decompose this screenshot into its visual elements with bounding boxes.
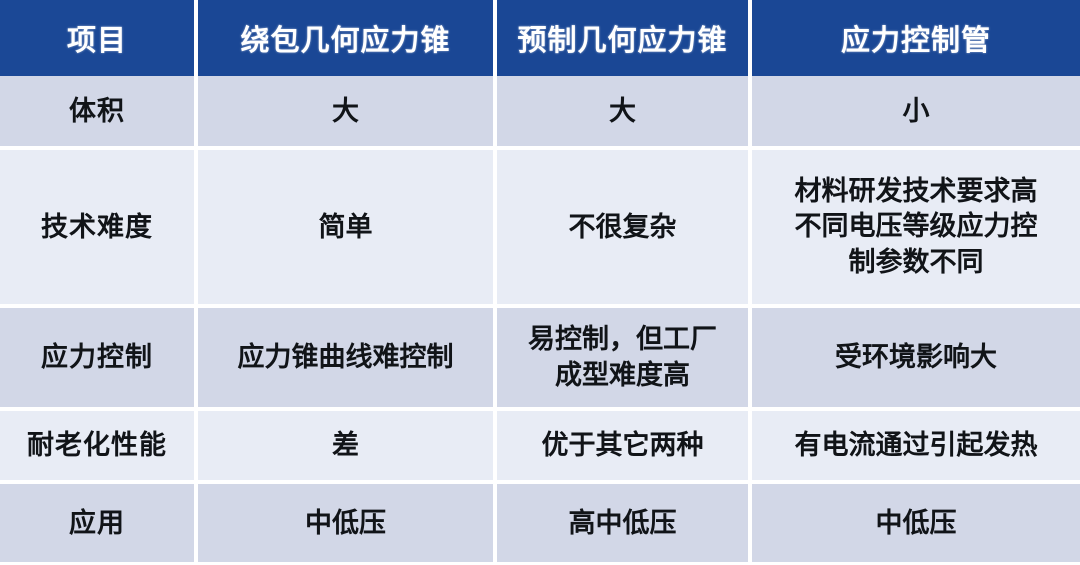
table-cell: 易控制，但工厂成型难度高 (497, 308, 752, 411)
cell-line: 大 (206, 94, 485, 129)
cell-line: 耐老化性能 (8, 428, 186, 463)
table-cell: 中低压 (198, 484, 497, 562)
cell-line: 易控制，但工厂 (505, 322, 740, 357)
cell-line: 技术难度 (8, 210, 186, 245)
column-header-premade-stress-cone: 预制几何应力锥 (497, 0, 752, 76)
cell-line: 材料研发技术要求高 (760, 174, 1072, 209)
table-cell: 高中低压 (497, 484, 752, 562)
table-cell: 应力锥曲线难控制 (198, 308, 497, 411)
cell-line: 大 (505, 94, 740, 129)
table-cell: 中低压 (752, 484, 1080, 562)
table-cell: 受环境影响大 (752, 308, 1080, 411)
table-cell: 大 (198, 76, 497, 150)
table-cell: 有电流通过引起发热 (752, 411, 1080, 484)
cell-line: 制参数不同 (760, 245, 1072, 280)
cell-line: 差 (206, 428, 485, 463)
table-cell: 材料研发技术要求高不同电压等级应力控制参数不同 (752, 150, 1080, 308)
table-cell: 小 (752, 76, 1080, 150)
cell-line: 中低压 (760, 506, 1072, 541)
table-cell: 不很复杂 (497, 150, 752, 308)
row-label-cell: 体积 (0, 76, 198, 150)
column-header-item: 项目 (0, 0, 198, 76)
comparison-table: 项目 绕包几何应力锥 预制几何应力锥 应力控制管 体积大大小技术难度简单不很复杂… (0, 0, 1080, 562)
cell-line: 小 (760, 94, 1072, 129)
table-cell: 大 (497, 76, 752, 150)
row-label-cell: 应用 (0, 484, 198, 562)
row-label-cell: 技术难度 (0, 150, 198, 308)
cell-line: 高中低压 (505, 506, 740, 541)
table-row: 技术难度简单不很复杂材料研发技术要求高不同电压等级应力控制参数不同 (0, 150, 1080, 308)
cell-line: 体积 (8, 94, 186, 129)
cell-line: 不同电压等级应力控 (760, 209, 1072, 244)
table-row: 应力控制应力锥曲线难控制易控制，但工厂成型难度高受环境影响大 (0, 308, 1080, 411)
cell-line: 受环境影响大 (760, 340, 1072, 375)
cell-line: 应力控制 (8, 340, 186, 375)
column-header-wrapped-stress-cone: 绕包几何应力锥 (198, 0, 497, 76)
row-label-cell: 耐老化性能 (0, 411, 198, 484)
table-row: 耐老化性能差优于其它两种有电流通过引起发热 (0, 411, 1080, 484)
table-cell: 简单 (198, 150, 497, 308)
row-label-cell: 应力控制 (0, 308, 198, 411)
cell-line: 有电流通过引起发热 (760, 428, 1072, 463)
cell-line: 成型难度高 (505, 358, 740, 393)
cell-line: 不很复杂 (505, 210, 740, 245)
cell-line: 应用 (8, 506, 186, 541)
table-header: 项目 绕包几何应力锥 预制几何应力锥 应力控制管 (0, 0, 1080, 76)
table-cell: 差 (198, 411, 497, 484)
table-row: 体积大大小 (0, 76, 1080, 150)
comparison-table-container: 项目 绕包几何应力锥 预制几何应力锥 应力控制管 体积大大小技术难度简单不很复杂… (0, 0, 1080, 565)
cell-line: 应力锥曲线难控制 (206, 340, 485, 375)
column-header-stress-control-tube: 应力控制管 (752, 0, 1080, 76)
cell-line: 优于其它两种 (505, 428, 740, 463)
table-body: 体积大大小技术难度简单不很复杂材料研发技术要求高不同电压等级应力控制参数不同应力… (0, 76, 1080, 562)
cell-line: 简单 (206, 210, 485, 245)
cell-line: 中低压 (206, 506, 485, 541)
table-row: 应用中低压高中低压中低压 (0, 484, 1080, 562)
table-cell: 优于其它两种 (497, 411, 752, 484)
table-header-row: 项目 绕包几何应力锥 预制几何应力锥 应力控制管 (0, 0, 1080, 76)
